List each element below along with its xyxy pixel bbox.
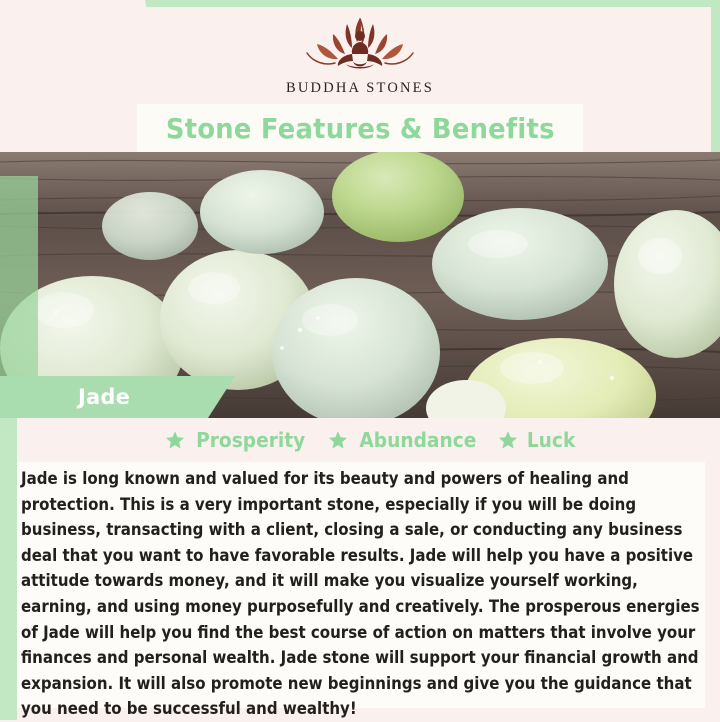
benefit-label: Abundance [359, 428, 476, 452]
lotus-meditation-icon [304, 14, 416, 76]
benefit-item: Luck [498, 428, 577, 452]
benefit-label: Luck [527, 428, 575, 452]
content-section: Prosperity Abundance Luck Jade is long k… [17, 418, 720, 720]
stone-name-band: Jade [0, 376, 235, 418]
benefit-item: Prosperity [165, 428, 309, 452]
benefit-label: Prosperity [196, 428, 305, 452]
description-panel: Jade is long known and valued for its be… [17, 462, 705, 708]
description-text: Jade is long known and valued for its be… [21, 466, 709, 722]
star-icon [498, 430, 518, 450]
benefits-row: Prosperity Abundance Luck [17, 418, 720, 452]
benefit-item: Abundance [328, 428, 481, 452]
left-green-border [0, 418, 17, 720]
stone-name: Jade [78, 385, 130, 409]
brand-name: BUDDHA STONES [286, 80, 434, 97]
star-icon [165, 430, 185, 450]
star-icon [328, 430, 348, 450]
page-title: Stone Features & Benefits [166, 112, 555, 145]
brand-logo: BUDDHA STONES [0, 14, 720, 97]
page-title-band: Stone Features & Benefits [137, 104, 583, 152]
